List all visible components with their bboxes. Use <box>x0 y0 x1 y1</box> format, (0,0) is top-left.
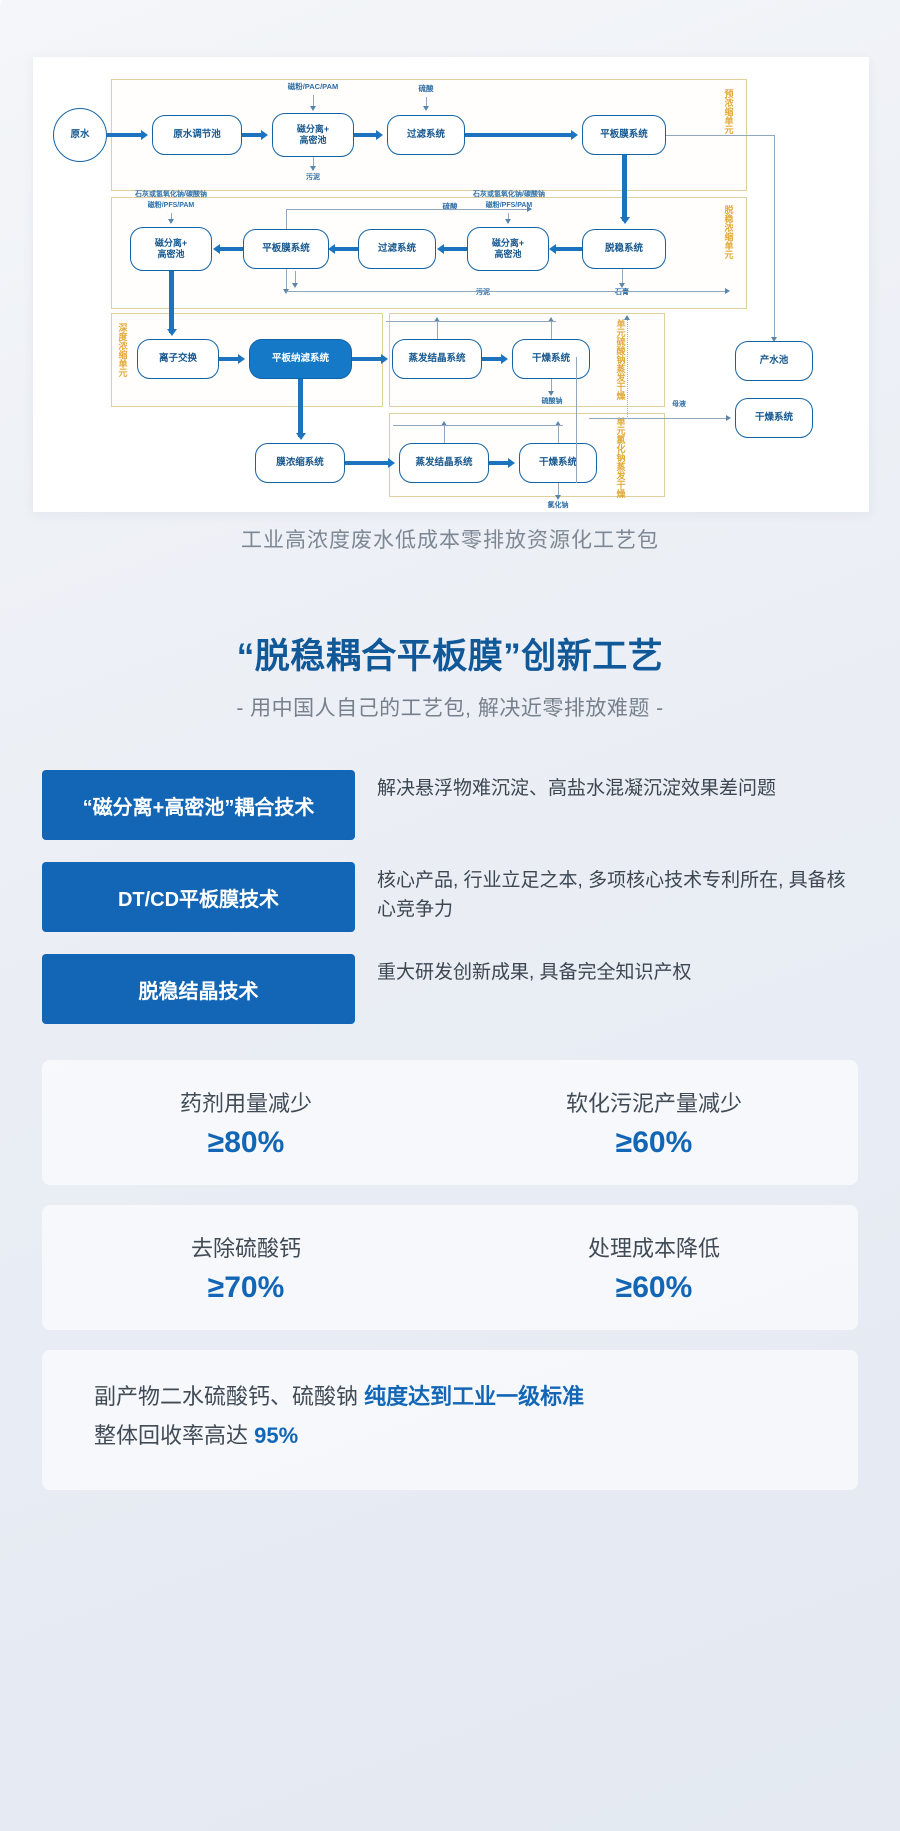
stat-value: ≥80% <box>208 1126 285 1160</box>
arrowhead <box>555 495 561 500</box>
arrow-nano-down <box>298 379 303 437</box>
byproduct-line-1: 副产物二水硫酸钙、硫酸钠 纯度达到工业一级标准 <box>94 1378 806 1417</box>
arrowhead <box>167 329 177 336</box>
feature-tag: 脱稳结晶技术 <box>42 954 355 1024</box>
node-product-water-pond: 产水池 <box>735 341 813 381</box>
feature-tag: DT/CD平板膜技术 <box>42 862 355 932</box>
arrowhead <box>261 130 268 140</box>
node-raw-water-tank: 原水调节池 <box>152 115 242 155</box>
arrowhead <box>296 433 306 440</box>
stat-cell: 去除硫酸钙 ≥70% <box>42 1205 450 1330</box>
group-label-sodium-sulfate-evap: 单元硫酸钠蒸发干燥 <box>615 319 624 400</box>
feature-item: DT/CD平板膜技术 核心产品, 行业立足之本, 多项核心技术专利所在, 具备核… <box>42 862 858 932</box>
arrowhead <box>624 315 630 320</box>
arrowhead <box>508 458 515 468</box>
group-label-deep-concentration: 深度浓缩单元 <box>117 323 126 377</box>
fm2-collector-down <box>286 269 287 291</box>
caption-mother-liquor: 母液 <box>659 401 699 409</box>
feature-item: “磁分离+高密池”耦合技术 解决悬浮物难沉淀、高盐水混凝沉淀效果差问题 <box>42 770 858 840</box>
evap2-recycle-up <box>444 425 445 443</box>
node-filter-2: 过滤系统 <box>358 229 436 269</box>
node-filter-1: 过滤系统 <box>387 115 465 155</box>
stat-value: ≥70% <box>208 1271 285 1305</box>
arrowhead <box>571 130 578 140</box>
feature-description: 核心产品, 行业立足之本, 多项核心技术专利所在, 具备核心竞争力 <box>377 862 858 925</box>
node-label: 磁分离+高密池 <box>155 238 187 259</box>
node-raw-water: 原水 <box>53 108 107 162</box>
node-evap-cryst-1: 蒸发结晶系统 <box>392 339 482 379</box>
arrowhead <box>501 354 508 364</box>
evap1-recycle-up <box>437 321 438 339</box>
arrowhead <box>168 219 174 224</box>
node-dryer-3: 干燥系统 <box>735 398 813 438</box>
arrow-magsep2-to-filter2 <box>443 247 467 251</box>
arrowhead <box>388 458 395 468</box>
stat-cell: 软化污泥产量减少 ≥60% <box>450 1060 858 1185</box>
arrowhead <box>238 354 245 364</box>
node-dryer-1: 干燥系统 <box>512 339 590 379</box>
byproduct-line-1-text: 副产物二水硫酸钙、硫酸钠 <box>94 1384 358 1409</box>
arrowhead <box>725 288 730 294</box>
node-membrane-concentration: 膜浓缩系统 <box>255 443 345 483</box>
row4-recycle-bus <box>393 425 563 426</box>
feature-tag: “磁分离+高密池”耦合技术 <box>42 770 355 840</box>
arrow-magsep1-to-filter1 <box>354 133 378 137</box>
node-label: 磁分离+高密池 <box>492 238 524 259</box>
stat-label: 药剂用量减少 <box>180 1086 312 1118</box>
node-mag-sep-3: 磁分离+高密池 <box>130 227 212 271</box>
diagram-caption: 工业高浓度废水低成本零排放资源化工艺包 <box>0 524 900 554</box>
node-flat-membrane-2: 平板膜系统 <box>243 229 329 269</box>
node-label: 磁分离+高密池 <box>297 124 329 145</box>
caption-sodium-chloride: 氯化钠 <box>535 502 581 510</box>
group-label-destab-concentration: 脱稳浓缩单元 <box>723 205 732 259</box>
stat-value: ≥60% <box>616 1271 693 1305</box>
arrow-magsep3-down <box>169 271 174 333</box>
fm1-permeate-line <box>666 135 774 136</box>
node-mag-sep-2: 磁分离+高密池 <box>467 227 549 271</box>
caption-dose-3-line1: 石灰或氢氧化钠/碳酸钠 <box>447 191 571 199</box>
arrowhead <box>549 244 556 254</box>
feature-item: 脱稳结晶技术 重大研发创新成果, 具备完全知识产权 <box>42 954 858 1024</box>
arrowhead <box>548 391 554 396</box>
arrowhead <box>376 130 383 140</box>
caption-dose-1: 磁粉/PAC/PAM <box>263 83 363 92</box>
arrowhead <box>620 217 630 224</box>
stat-label: 处理成本降低 <box>588 1231 720 1263</box>
arrowhead <box>423 106 429 111</box>
arrow-fm2-to-magsep3 <box>219 247 243 251</box>
caption-acid-2: 硫酸 <box>430 203 470 212</box>
arrow-fm1-to-destab <box>622 155 627 221</box>
arrowhead <box>726 415 731 421</box>
stat-label: 软化污泥产量减少 <box>566 1086 742 1118</box>
arrowhead <box>381 354 388 364</box>
node-destab-system: 脱稳系统 <box>582 229 666 269</box>
arrow-filter1-to-fm1 <box>465 133 573 137</box>
arrowhead <box>619 283 625 288</box>
feature-list: “磁分离+高密池”耦合技术 解决悬浮物难沉淀、高盐水混凝沉淀效果差问题 DT/C… <box>42 770 858 1046</box>
byproduct-line-2: 整体回收率高达 95% <box>94 1417 806 1456</box>
stat-label: 去除硫酸钙 <box>191 1231 301 1263</box>
process-diagram-card: 预浓缩单元 脱稳浓缩单元 深度浓缩单元 单元硫酸钠蒸发干燥 单元氯化钠蒸发干燥 … <box>33 57 869 512</box>
page-subtitle: - 用中国人自己的工艺包, 解决近零排放难题 - <box>0 692 900 722</box>
node-mag-sep-1: 磁分离+高密池 <box>272 113 354 157</box>
byproduct-summary-panel: 副产物二水硫酸钙、硫酸钠 纯度达到工业一级标准 整体回收率高达 95% <box>42 1350 858 1490</box>
mother-liquor-line <box>589 418 729 419</box>
group-label-preconcentration: 预浓缩单元 <box>723 89 732 134</box>
node-ion-exchange: 离子交换 <box>137 339 219 379</box>
arrowhead <box>437 244 444 254</box>
arrowhead <box>527 206 532 212</box>
fm2-permeate-right <box>286 209 531 210</box>
arrowhead <box>292 283 298 288</box>
dryer2-recycle-up <box>558 425 559 443</box>
arrowhead <box>213 244 220 254</box>
node-flat-membrane-1: 平板膜系统 <box>582 115 666 155</box>
arrow-memconc-to-evap2 <box>345 461 391 465</box>
condensate-riser <box>576 357 577 483</box>
byproduct-line-2-text: 整体回收率高达 <box>94 1423 248 1448</box>
waste-bus <box>323 291 728 292</box>
row3-recycle-bus <box>386 321 556 322</box>
stat-cell: 处理成本降低 ≥60% <box>450 1205 858 1330</box>
group-label-sodium-chloride-evap: 单元氯化钠蒸发干燥 <box>615 417 624 498</box>
arrowhead <box>141 130 148 140</box>
fm2-permeate-up <box>286 209 287 229</box>
feature-description: 解决悬浮物难沉淀、高盐水混凝沉淀效果差问题 <box>377 770 776 803</box>
node-flat-nanofiltration: 平板纳滤系统 <box>249 339 352 379</box>
process-flow-diagram: 预浓缩单元 脱稳浓缩单元 深度浓缩单元 单元硫酸钠蒸发干燥 单元氯化钠蒸发干燥 … <box>33 57 869 512</box>
arrowhead <box>328 244 335 254</box>
arrow-filter2-to-fm2 <box>334 247 358 251</box>
caption-dose-2-line1: 石灰或氢氧化钠/碳酸钠 <box>109 191 233 199</box>
feature-description: 重大研发创新成果, 具备完全知识产权 <box>377 954 692 987</box>
page-title: “脱稳耦合平板膜”创新工艺 <box>0 628 900 679</box>
arrowhead <box>505 219 511 224</box>
stats-panel-secondary: 去除硫酸钙 ≥70% 处理成本降低 ≥60% <box>42 1205 858 1330</box>
dryer1-recycle-up <box>551 321 552 339</box>
byproduct-line-1-highlight: 纯度达到工业一级标准 <box>364 1384 584 1409</box>
arrow-destab-to-magsep2 <box>555 247 582 251</box>
caption-dose-2-line2: 磁粉/PFS/PAM <box>109 202 233 210</box>
caption-sodium-sulfate: 硫酸钠 <box>529 398 575 406</box>
fm1-permeate-down <box>774 135 775 339</box>
mother-liquor-riser <box>627 319 628 419</box>
byproduct-line-2-highlight: 95% <box>254 1423 298 1448</box>
arrow-raw-to-tank <box>107 133 143 137</box>
arrow-nano-to-evap1 <box>352 357 384 361</box>
stats-panel-primary: 药剂用量减少 ≥80% 软化污泥产量减少 ≥60% <box>42 1060 858 1185</box>
caption-acid-1: 硫酸 <box>401 85 451 94</box>
node-dryer-2: 干燥系统 <box>519 443 597 483</box>
stat-value: ≥60% <box>616 1126 693 1160</box>
node-evap-cryst-2: 蒸发结晶系统 <box>399 443 489 483</box>
arrowhead <box>310 166 316 171</box>
stat-cell: 药剂用量减少 ≥80% <box>42 1060 450 1185</box>
caption-sludge-1: 污泥 <box>291 174 335 182</box>
arrowhead <box>310 106 316 111</box>
